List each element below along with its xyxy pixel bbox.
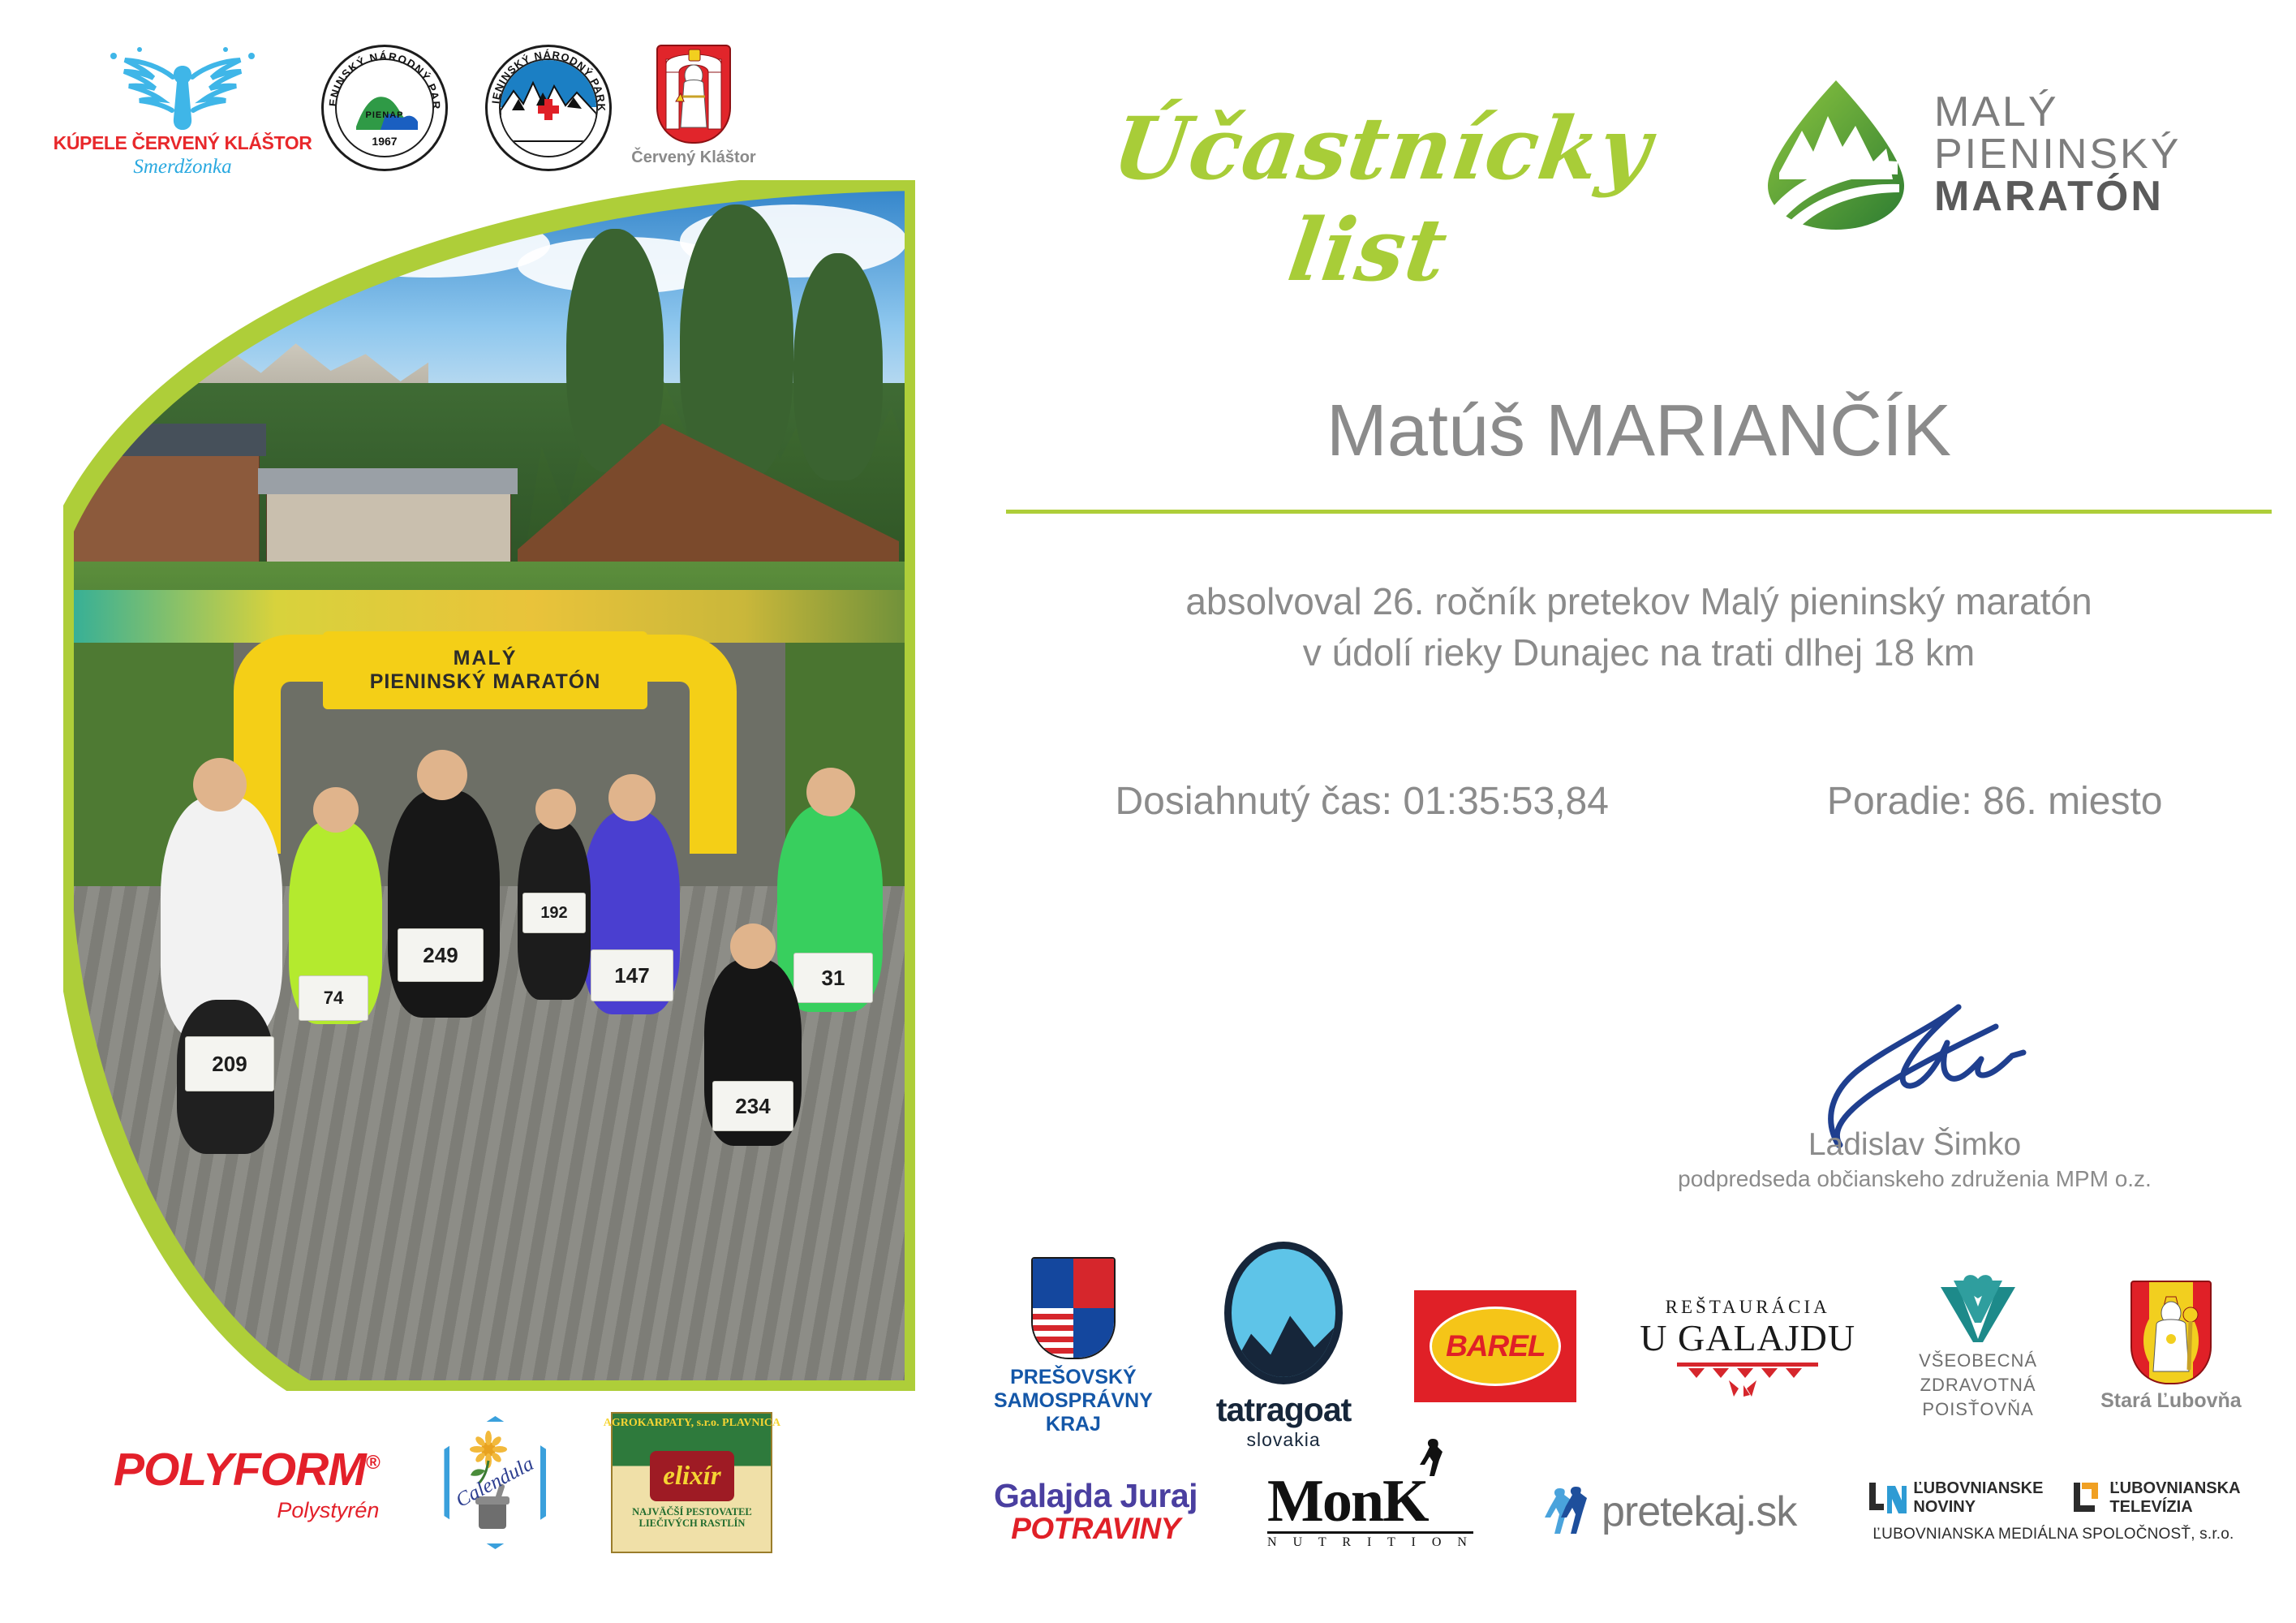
agrokarpaty-top: AGROKARPATY, s.r.o. PLAVNICA <box>604 1417 780 1430</box>
pienap-year: 1967 <box>372 135 397 148</box>
recipient-name: Matúš MARIANČÍK <box>1006 390 2272 473</box>
ln-monogram-icon <box>1866 1481 1907 1515</box>
signature-block: Ladislav Šimko podpredseda občianskeho z… <box>1631 994 2199 1192</box>
pienap-label: PIENAP <box>366 110 404 120</box>
logo-cerveny-klastor: Červený Kláštor <box>649 45 738 167</box>
tatragoat-sub: slovakia <box>1247 1429 1321 1451</box>
sponsor-monk-nutrition: MonK N U T R I T I O N <box>1267 1473 1473 1550</box>
tatragoat-name: tatragoat <box>1216 1391 1351 1429</box>
photo-runner-head <box>313 787 359 833</box>
page-title: Účastnícky list <box>1004 97 1746 300</box>
logo-horska-sluzba: PIENINSKÝ NÁRODNÝ PARK HORSKÁ SLUŽBA <box>485 45 612 171</box>
photo-runner-head <box>535 789 576 829</box>
presov-line-1: PREŠOVSKÝ <box>994 1366 1153 1389</box>
pretekaj-runners-icon <box>1543 1483 1593 1540</box>
agrokarpaty-elixir: elixír <box>663 1462 721 1492</box>
horska-mountain-cross-icon <box>501 60 596 156</box>
galajda-name: Galajda Juraj <box>994 1477 1197 1515</box>
photo-runner-head <box>608 774 656 821</box>
photo-tree <box>680 204 793 480</box>
photo-bib: 234 <box>712 1081 793 1131</box>
photo-runner-head <box>193 758 247 811</box>
psk-quarter-waves <box>1033 1308 1073 1358</box>
sponsor-polyform: POLYFORM® Polystyrén <box>114 1443 379 1523</box>
signatory-role: podpredseda občianskeho združenia MPM o.… <box>1631 1166 2199 1192</box>
rank-place: Poradie: 86. miesto <box>1827 779 2163 824</box>
vszp-line-1: VŠEOBECNÁ <box>1919 1349 2037 1373</box>
kupele-sub: Smerdžonka <box>133 156 231 179</box>
agrokarpaty-bottom-2: LIEČIVÝCH RASTLÍN <box>632 1518 752 1529</box>
tatragoat-mountain-goat-icon <box>1224 1242 1343 1384</box>
ln-line-1: ĽUBOVNIANSKE <box>1913 1479 2043 1497</box>
polyform-name: POLYFORM® <box>114 1443 379 1496</box>
horska-inner-ring <box>499 58 598 157</box>
stara-lubovna-label: Stará Ľubovňa <box>2100 1389 2242 1413</box>
agrokarpaty-badge: elixír <box>650 1451 734 1501</box>
event-photo-image: MALÝ PIENINSKÝ MARATÓN 209 74 249 147 19… <box>63 180 915 1391</box>
kupele-name: KÚPELE ČERVENÝ KLÁŠTOR <box>54 132 312 154</box>
monk-runner-figure-icon <box>1418 1437 1446 1481</box>
photo-runner-head <box>730 923 776 969</box>
logo-pienap: PIENINSKÝ NÁRODNÝ PARK PIENAP 1967 <box>321 45 448 171</box>
psk-quarter-lion <box>1073 1259 1114 1308</box>
cerveny-klastor-label: Červený Kláštor <box>631 149 755 167</box>
finish-time: Dosiahnutý čas: 01:35:53,84 <box>1116 779 1609 824</box>
arch-line-1: MALÝ <box>454 647 518 670</box>
vszp-line-2: ZDRAVOTNÁ <box>1919 1373 2037 1397</box>
photo-runner <box>388 790 500 1018</box>
horska-sluzba-seal-icon: PIENINSKÝ NÁRODNÝ PARK HORSKÁ SLUŽBA <box>485 45 612 171</box>
mpm-line-1: MALÝ <box>1934 91 2181 133</box>
sponsor-lubovnianske-noviny: ĽUBOVNIANSKE NOVINY <box>1866 1479 2043 1516</box>
galajdu-folk-ornament-icon <box>1672 1361 1823 1397</box>
photo-bib: 31 <box>793 953 873 1003</box>
sponsor-calendula: Calendula <box>444 1416 546 1549</box>
galajdu-name: U GALAJDU <box>1640 1316 1855 1359</box>
photo-bib: 209 <box>185 1036 274 1091</box>
photo-roof <box>63 424 266 456</box>
photo-bib: 192 <box>522 893 586 933</box>
sponsor-tatragoat: tatragoat slovakia <box>1216 1242 1351 1451</box>
mpm-leaf-mountain-icon <box>1765 77 1907 231</box>
handwritten-signature-icon <box>1744 994 2085 1148</box>
mpm-line-2: PIENINSKÝ <box>1934 133 2181 175</box>
psk-quarter-crown <box>1033 1259 1073 1308</box>
monk-sub: N U T R I T I O N <box>1267 1535 1473 1550</box>
pienap-inner-ring: PIENAP 1967 <box>335 58 434 157</box>
lt-line-1: ĽUBOVNIANSKA <box>2109 1479 2240 1497</box>
kupele-figure-icon <box>89 45 276 132</box>
barel-name: BAREL <box>1446 1329 1545 1363</box>
certificate-description: absolvoval 26. ročník pretekov Malý pien… <box>1006 576 2272 679</box>
barel-logo-icon: BAREL <box>1414 1290 1576 1402</box>
sponsor-pretekaj-sk: pretekaj.sk <box>1543 1483 1796 1540</box>
cerveny-klastor-coat-of-arms-icon <box>656 45 731 144</box>
sponsor-presovsky-kraj: PREŠOVSKÝ SAMOSPRÁVNY KRAJ <box>994 1257 1153 1436</box>
sponsors-bottom-left: POLYFORM® Polystyrén Calendula AGROKARPA… <box>114 1412 772 1553</box>
sponsor-barel: BAREL <box>1414 1290 1576 1402</box>
presov-label: PREŠOVSKÝ SAMOSPRÁVNY KRAJ <box>994 1366 1153 1436</box>
mpm-wordmark: MALÝ PIENINSKÝ MARATÓN <box>1934 91 2181 217</box>
polyform-wordmark: POLYFORM <box>114 1444 366 1496</box>
lms-footer: ĽUBOVNIANSKA MEDIÁLNA SPOLOČNOSŤ, s.r.o. <box>1872 1526 2234 1543</box>
sponsor-agrokarpaty: AGROKARPATY, s.r.o. PLAVNICA elixír NAJV… <box>611 1412 772 1553</box>
certificate-results: Dosiahnutý čas: 01:35:53,84 Poradie: 86.… <box>1006 779 2272 824</box>
event-photo: MALÝ PIENINSKÝ MARATÓN 209 74 249 147 19… <box>63 180 915 1391</box>
polyform-sub: Polystyrén <box>114 1498 379 1523</box>
sponsor-u-galajdu: REŠTAURÁCIA U GALAJDU <box>1640 1297 1855 1397</box>
logo-kupele-cerveny-klastor: KÚPELE ČERVENÝ KLÁŠTOR Smerdžonka <box>81 45 284 179</box>
photo-bib: 74 <box>299 975 368 1021</box>
ln-label: ĽUBOVNIANSKE NOVINY <box>1913 1479 2043 1516</box>
vszp-label: VŠEOBECNÁ ZDRAVOTNÁ POISŤOVŇA <box>1919 1349 2037 1421</box>
description-line-2: v údolí rieky Dunajec na trati dlhej 18 … <box>1006 627 2272 678</box>
photo-tree <box>793 253 883 480</box>
mpm-logo: MALÝ PIENINSKÝ MARATÓN <box>1765 77 2181 231</box>
lt-line-2: TELEVÍZIA <box>2109 1498 2240 1516</box>
mpm-line-3: MARATÓN <box>1934 175 2181 217</box>
psk-quarter-fish <box>1073 1308 1114 1358</box>
presov-line-3: KRAJ <box>994 1413 1153 1436</box>
lt-monogram-icon <box>2070 1481 2103 1515</box>
arch-line-2: PIENINSKÝ MARATÓN <box>370 670 601 694</box>
vszp-heart-v-icon <box>1936 1271 2020 1342</box>
photo-runner-head <box>806 768 855 816</box>
vszp-line-3: POISŤOVŇA <box>1919 1397 2037 1422</box>
arch-banner: MALÝ PIENINSKÝ MARATÓN <box>323 631 647 709</box>
sponsor-lubovnianska-televizia: ĽUBOVNIANSKA TELEVÍZIA <box>2070 1479 2240 1516</box>
sponsor-vszp: VŠEOBECNÁ ZDRAVOTNÁ POISŤOVŇA <box>1919 1271 2037 1421</box>
sponsors-row-1: PREŠOVSKÝ SAMOSPRÁVNY KRAJ tatragoat slo… <box>994 1242 2242 1451</box>
monk-name: MonK <box>1267 1473 1473 1530</box>
presov-line-2: SAMOSPRÁVNY <box>994 1389 1153 1413</box>
sponsor-stara-lubovna: Stará Ľubovňa <box>2100 1281 2242 1413</box>
photo-building <box>266 489 511 567</box>
galajda-sub: POTRAVINY <box>1011 1512 1180 1546</box>
title-divider <box>1006 510 2272 514</box>
photo-cloud <box>307 213 550 278</box>
photo-bib: 249 <box>398 928 484 982</box>
sponsor-lubovnianska-medialna: ĽUBOVNIANSKE NOVINY ĽUBOVNIANSKA TELEVÍZ… <box>1866 1479 2240 1543</box>
polyform-registered-icon: ® <box>366 1452 380 1474</box>
photo-bib: 147 <box>591 949 673 1001</box>
stara-lubovna-coat-of-arms-icon <box>2130 1281 2212 1384</box>
signatory-name: Ladislav Šimko <box>1631 1127 2199 1163</box>
barel-oval: BAREL <box>1430 1307 1561 1386</box>
tatragoat-mountain <box>1227 1302 1343 1377</box>
ln-line-2: NOVINY <box>1913 1498 2043 1516</box>
partner-logos-top: KÚPELE ČERVENÝ KLÁŠTOR Smerdžonka PIENIN… <box>81 45 941 191</box>
photo-runner-head <box>417 750 467 800</box>
photo-cloud <box>161 245 339 294</box>
lms-logos-row: ĽUBOVNIANSKE NOVINY ĽUBOVNIANSKA TELEVÍZ… <box>1866 1479 2240 1516</box>
photo-building <box>71 448 260 563</box>
pienap-seal-icon: PIENINSKÝ NÁRODNÝ PARK PIENAP 1967 <box>321 45 448 171</box>
photo-roof <box>258 468 518 494</box>
galajdu-top: REŠTAURÁCIA <box>1666 1297 1830 1318</box>
description-line-1: absolvoval 26. ročník pretekov Malý pien… <box>1006 576 2272 627</box>
sponsor-galajda-juraj: Galajda Juraj POTRAVINY <box>994 1477 1197 1546</box>
agrokarpaty-bottom-1: NAJVÄČŠÍ PESTOVATEĽ <box>632 1506 752 1518</box>
lt-label: ĽUBOVNIANSKA TELEVÍZIA <box>2109 1479 2240 1516</box>
sponsors-row-2: Galajda Juraj POTRAVINY MonK N U T R I T… <box>994 1473 2241 1550</box>
presov-coat-of-arms-icon <box>1031 1257 1116 1359</box>
pretekaj-name: pretekaj.sk <box>1602 1487 1796 1536</box>
agrokarpaty-bottom: NAJVÄČŠÍ PESTOVATEĽ LIEČIVÝCH RASTLÍN <box>632 1506 752 1530</box>
